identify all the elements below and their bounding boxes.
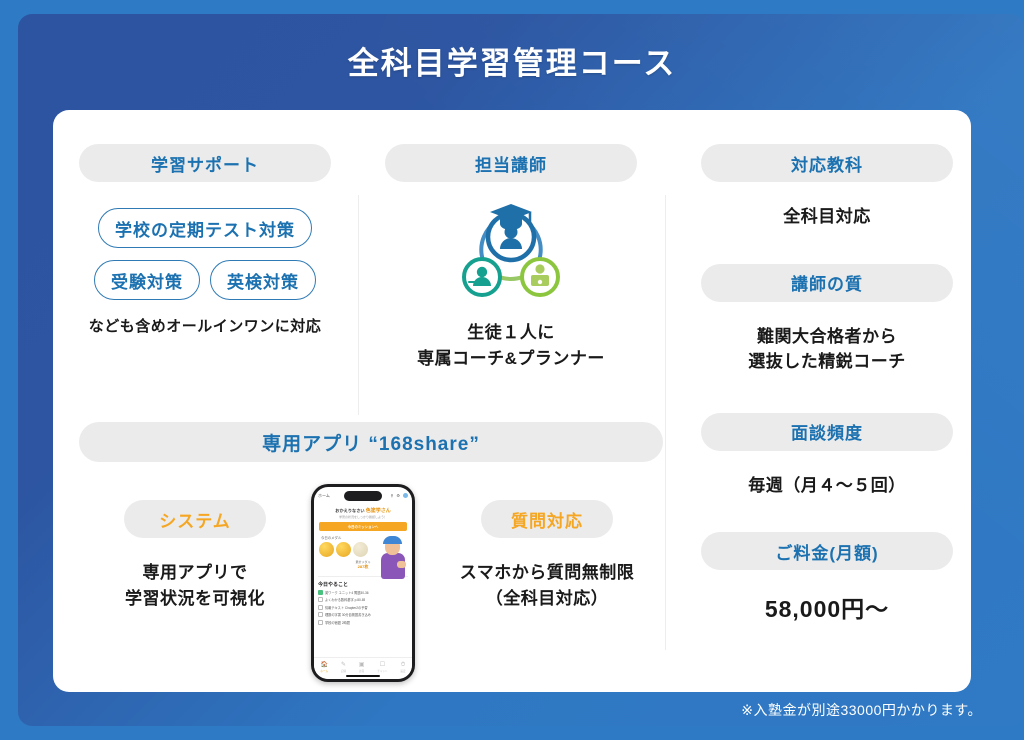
empty-medal-icon [353, 542, 368, 557]
phone-tab-label: 記録 [341, 669, 346, 673]
quality-line2: 選抜した精鋭コーチ [701, 349, 953, 375]
phone-tab-record[interactable]: ✎ 記録 [341, 662, 346, 673]
questions-line1: スマホから質問無制限 [431, 560, 663, 586]
questions-text: スマホから質問無制限 （全科目対応） [431, 560, 663, 611]
checkbox-icon[interactable] [318, 597, 323, 602]
subjects-value: 全科目対応 [701, 204, 953, 230]
instructor-pill-label: 担当講師 [385, 144, 637, 182]
phone-cta-button[interactable]: 今日のミッションへ [319, 522, 407, 531]
checkbox-icon[interactable] [318, 590, 323, 595]
checkbox-icon[interactable] [318, 605, 323, 610]
phone-todo-label: 理数の字習 30分自検図書き込み [325, 612, 371, 617]
phone-tab-settings[interactable]: ⏱ 設定 [400, 662, 405, 673]
checkbox-icon[interactable] [318, 612, 323, 617]
phone-welcome-sub: 学習の状況をしっかり確認しよう！ [319, 515, 407, 519]
phone-todo-label: 学校の宿題 2時間 [325, 620, 350, 625]
phone-welcome: おかえりなさい 色塗学さん [319, 507, 407, 514]
phone-todo-label: 英ワーク ユニット4 問題30-36 [325, 590, 369, 595]
phone-todo-label: 情報テキスト Chapter2の予習 [325, 605, 368, 610]
home-indicator [346, 675, 380, 677]
home-icon: 🏠 [320, 662, 328, 668]
instructor-line2: 専属コーチ&プランナー [385, 346, 637, 372]
instructor-text: 生徒１人に 専属コーチ&プランナー [385, 320, 637, 371]
gear-icon[interactable]: ⚙ [396, 493, 400, 498]
gold-medal-icon [336, 542, 351, 557]
support-tag-exam: 受験対策 [94, 260, 200, 300]
list-item[interactable]: 情報テキスト Chapter2の予習 [318, 605, 408, 610]
phone-character-illustration [378, 533, 408, 579]
footnote: ※入塾金が別途33000円かかります。 [741, 700, 982, 720]
questions-pill-label: 質問対応 [481, 500, 613, 538]
support-pill-label: 学習サポート [79, 144, 331, 182]
system-line2: 学習状況を可視化 [79, 586, 311, 612]
phone-screen: ホーム ⚲ ⚙ おかえりなさい 色塗学さん 学習の状況をしっかり確認しよう！ 今… [314, 487, 412, 679]
system-pill-label: システム [124, 500, 266, 538]
price-pill-label: ご料金(月額) [701, 532, 953, 570]
checkbox-icon[interactable] [318, 620, 323, 625]
support-note: なども含めオールインワンに対応 [79, 316, 331, 339]
system-text: 専用アプリで 学習状況を可視化 [79, 560, 311, 611]
phone-tab-home[interactable]: 🏠 ホーム [320, 662, 328, 673]
instructor-line1: 生徒１人に [385, 320, 637, 346]
column-details: 対応教科 全科目対応 講師の質 難関大合格者から 選抜した精鋭コーチ 面談頻度 … [701, 144, 953, 627]
phone-welcome-prefix: おかえりなさい [335, 508, 365, 513]
avatar-icon[interactable] [403, 493, 408, 498]
phone-tab-label: ホーム [320, 669, 328, 673]
poster-root: 全科目学習管理コース 学習サポート 学校の定期テスト対策 受験対策 英検対策 な… [0, 0, 1024, 740]
support-tag-eiken: 英検対策 [210, 260, 316, 300]
phone-todo-title: 今日やること [318, 581, 412, 588]
phone-tab-label: 計画 [359, 669, 365, 673]
list-item[interactable]: 学校の宿題 2時間 [318, 620, 408, 625]
subjects-pill-label: 対応教科 [701, 144, 953, 182]
pencil-icon: ✎ [341, 662, 346, 668]
support-tag-list: 学校の定期テスト対策 受験対策 英検対策 [79, 208, 331, 300]
column-divider-right [665, 195, 666, 650]
phone-tab-chat[interactable]: ☐ チャット [377, 662, 387, 673]
app-questions-block: 質問対応 スマホから質問無制限 （全科目対応） [431, 500, 663, 611]
column-instructor: 担当講師 [385, 144, 637, 371]
page-title: 全科目学習管理コース [0, 38, 1024, 83]
phone-tab-label: チャット [377, 669, 387, 673]
calendar-icon: ▣ [359, 662, 365, 668]
list-item[interactable]: 理数の字習 30分自検図書き込み [318, 612, 408, 617]
phone-todo-list: 英ワーク ユニット4 問題30-36 よくわかる数科基字 p.80-85 情報テ… [314, 590, 412, 625]
phone-mockup: ホーム ⚲ ⚙ おかえりなさい 色塗学さん 学習の状況をしっかり確認しよう！ 今… [311, 484, 415, 682]
phone-nav-title: ホーム [318, 493, 330, 499]
three-coaches-icon [452, 196, 570, 304]
phone-tab-label: 設定 [400, 669, 405, 673]
meeting-value: 毎週（月４～５回） [701, 473, 953, 499]
content-card: 学習サポート 学校の定期テスト対策 受験対策 英検対策 なども含めオールインワン… [53, 110, 971, 692]
phone-tab-plan[interactable]: ▣ 計画 [359, 662, 365, 673]
system-line1: 専用アプリで [79, 560, 311, 586]
clock-icon: ⏱ [400, 662, 405, 668]
quality-line1: 難関大合格者から [701, 324, 953, 350]
price-value: 58,000円〜 [701, 592, 953, 627]
column-support: 学習サポート 学校の定期テスト対策 受験対策 英検対策 なども含めオールインワン… [79, 144, 331, 339]
questions-line2: （全科目対応） [431, 586, 663, 612]
phone-notch [344, 491, 382, 501]
quality-text: 難関大合格者から 選抜した精鋭コーチ [701, 324, 953, 375]
search-icon[interactable]: ⚲ [390, 493, 393, 498]
column-divider-left [358, 195, 359, 415]
gold-medal-icon [319, 542, 334, 557]
support-tag-pair: 受験対策 英検対策 [94, 260, 316, 300]
app-section-header: 専用アプリ “168share” [79, 422, 663, 462]
list-item[interactable]: 英ワーク ユニット4 問題30-36 [318, 590, 408, 595]
support-tag-test: 学校の定期テスト対策 [98, 208, 312, 248]
meeting-pill-label: 面談頻度 [701, 413, 953, 451]
app-system-block: システム 専用アプリで 学習状況を可視化 [79, 500, 311, 611]
phone-welcome-name: 色塗学さん [366, 508, 391, 514]
phone-todo-label: よくわかる数科基字 p.80-85 [325, 597, 365, 602]
chat-icon: ☐ [377, 662, 387, 668]
list-item[interactable]: よくわかる数科基字 p.80-85 [318, 597, 408, 602]
quality-pill-label: 講師の質 [701, 264, 953, 302]
